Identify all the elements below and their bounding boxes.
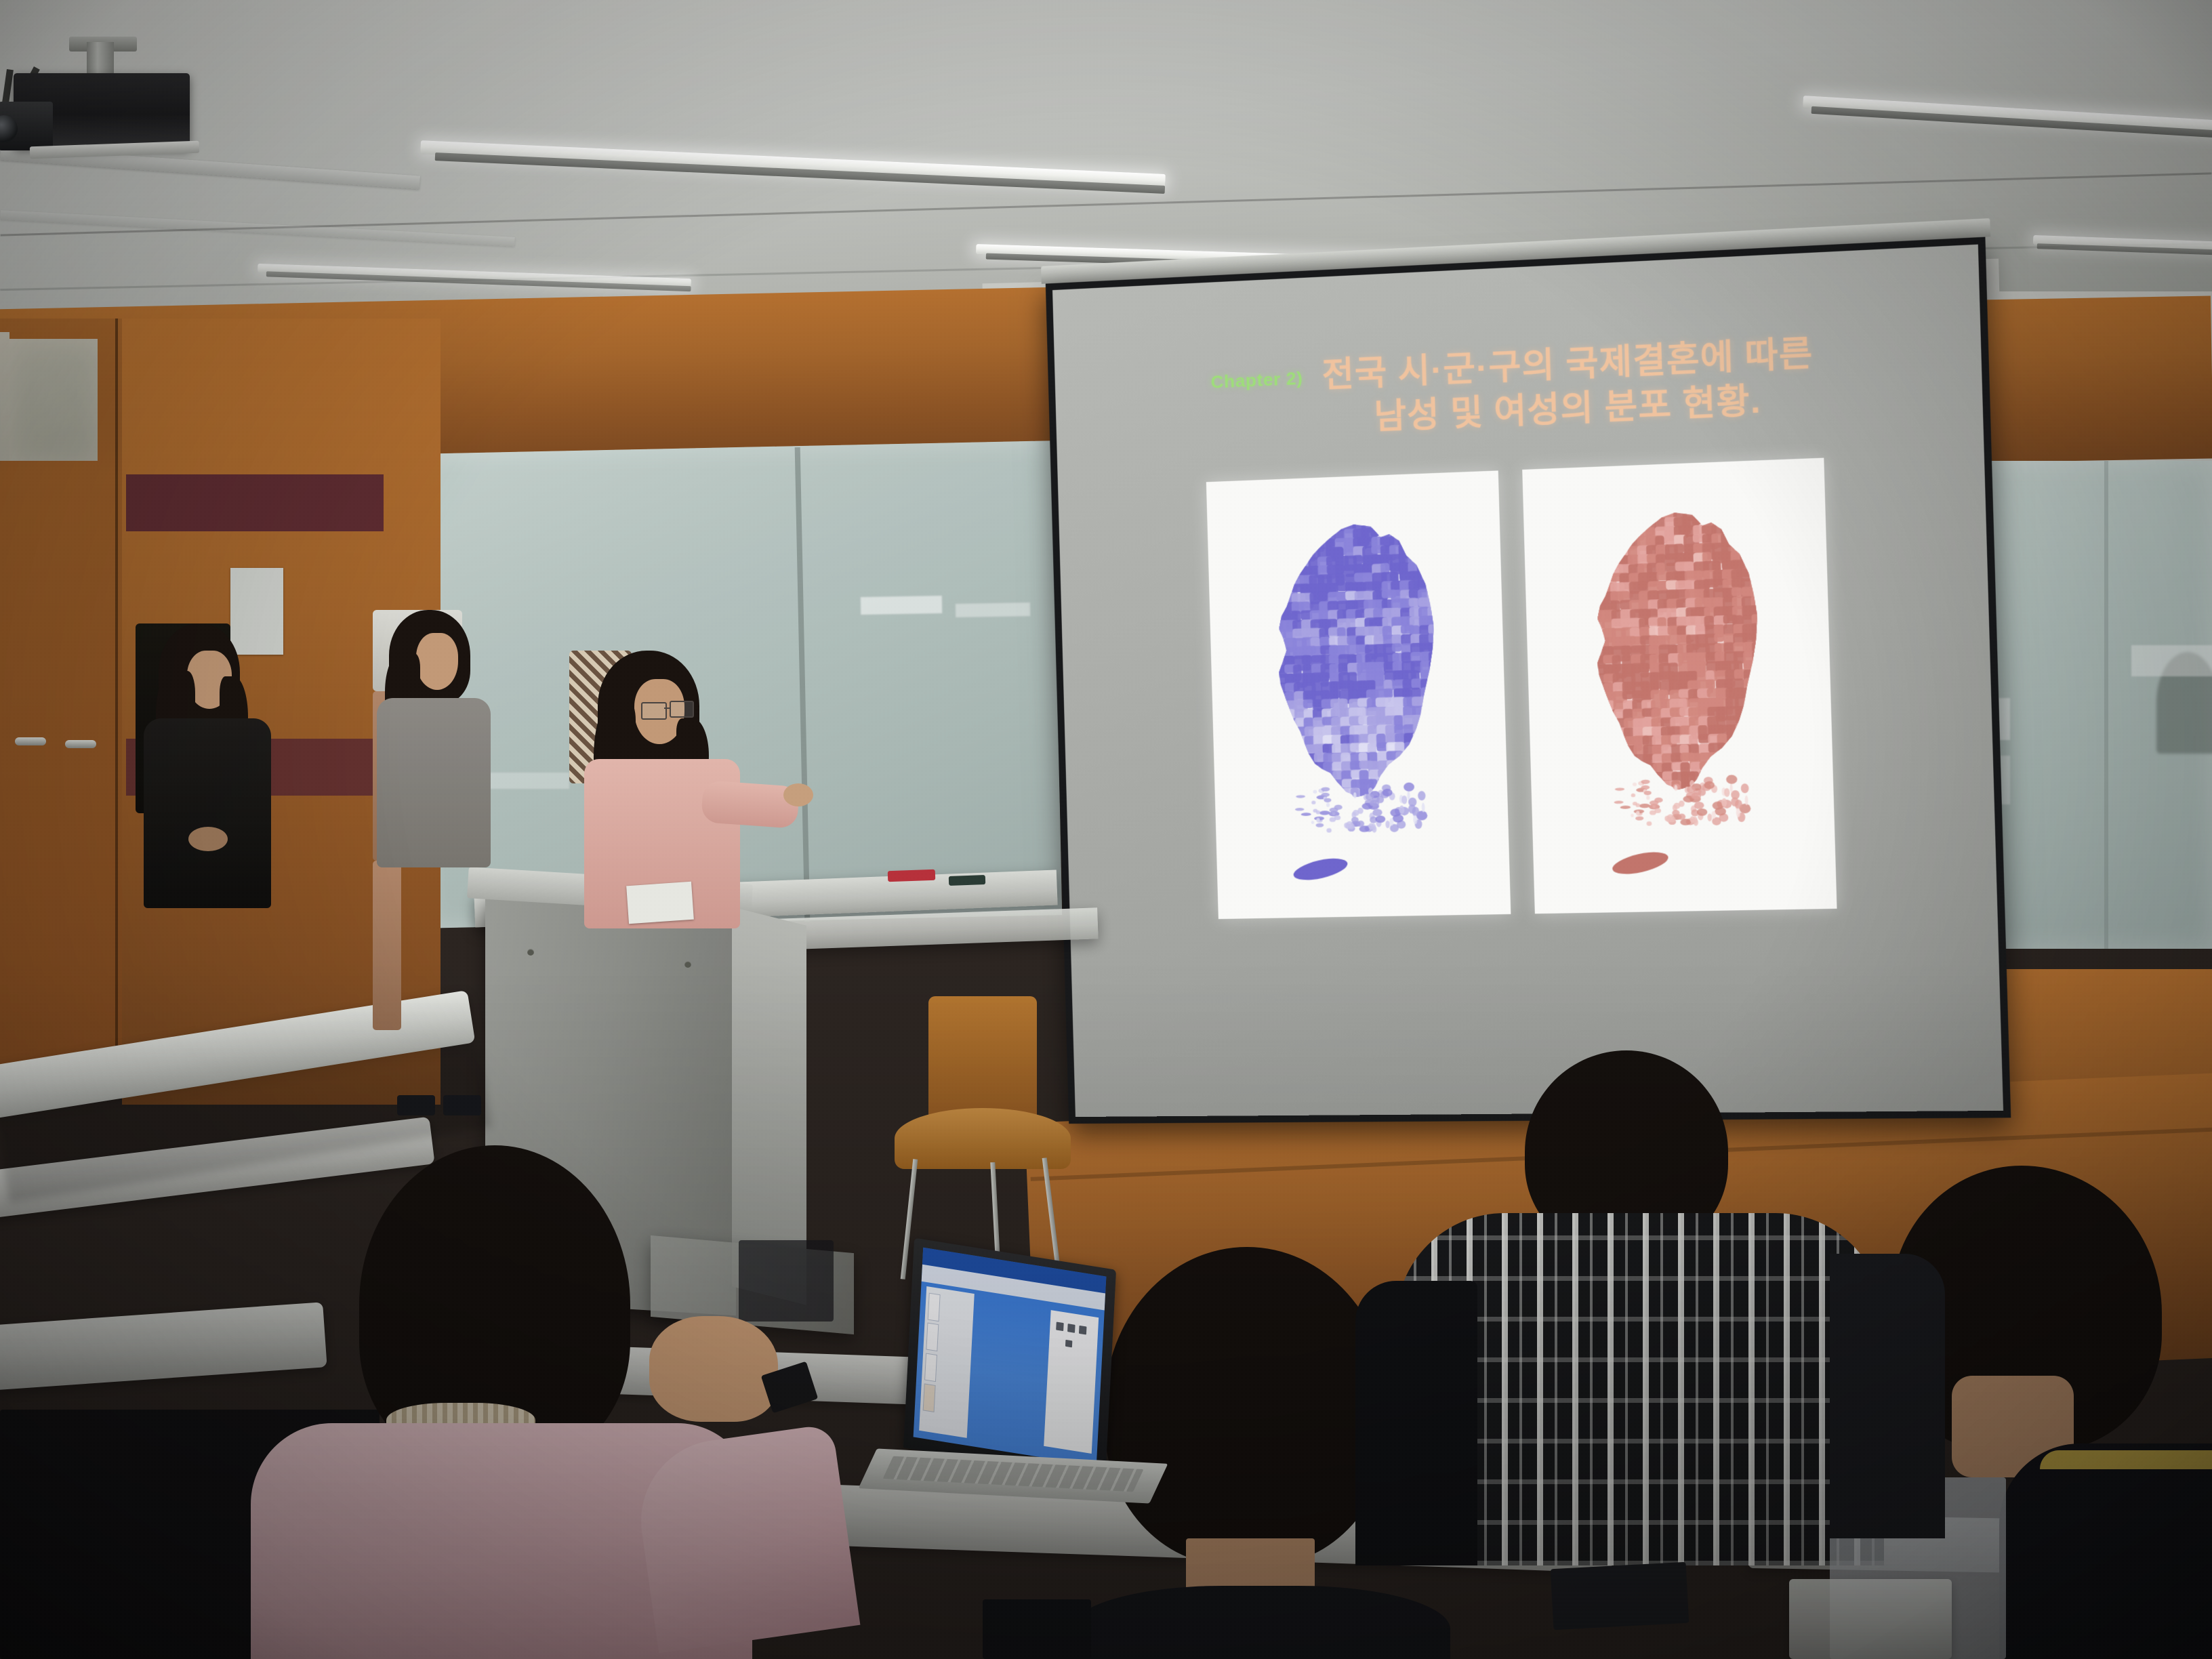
- laptop-notes-panel[interactable]: [1044, 1310, 1099, 1454]
- window-mullion: [2104, 461, 2108, 949]
- chair-back: [928, 996, 1037, 1125]
- notes-text-line: [1056, 1322, 1064, 1331]
- podium-screw: [684, 961, 691, 968]
- audience-plaid-neighbor-shoulder: [1355, 1281, 1477, 1565]
- screen-surface: Chapter 2) 전국 시·군·구의 국제결혼에 따른 남성 및 여성의 분…: [1052, 245, 2003, 1117]
- door-window: [0, 332, 9, 461]
- laptop-slide-panel[interactable]: [919, 1286, 974, 1438]
- map-female-svg: [1522, 457, 1837, 914]
- glasses-bridge: [664, 708, 671, 709]
- presenter-middle-shoe: [443, 1095, 481, 1115]
- door-handle[interactable]: [15, 737, 46, 745]
- paper-sheet[interactable]: [1789, 1579, 1952, 1659]
- glasses-lens-right: [670, 701, 694, 718]
- projection-screen: Chapter 2) 전국 시·군·구의 국제결혼에 따른 남성 및 여성의 분…: [1046, 237, 2011, 1124]
- slide-thumbnail[interactable]: [926, 1323, 939, 1352]
- maroon-accent-band: [126, 474, 384, 531]
- door-window: [9, 339, 98, 461]
- door-seam: [115, 319, 118, 1091]
- dark-marker[interactable]: [949, 875, 985, 886]
- presenter-left-hands: [188, 827, 228, 851]
- classroom-presentation-photo: Chapter 2) 전국 시·군·구의 국제결혼에 따른 남성 및 여성의 분…: [0, 0, 2212, 1659]
- audience-right-neighbor: [1830, 1254, 1945, 1538]
- desk-item[interactable]: [983, 1599, 1091, 1659]
- slide-chapter-tag: Chapter 2): [1210, 368, 1303, 393]
- slide: Chapter 2) 전국 시·군·구의 국제결혼에 따른 남성 및 여성의 분…: [1052, 245, 2003, 1117]
- presenter-right-arm: [701, 780, 800, 829]
- red-marker[interactable]: [888, 869, 936, 882]
- presenter-middle-shoe: [397, 1095, 435, 1115]
- slide-thumbnail[interactable]: [923, 1383, 935, 1412]
- slide-maps-row: [1206, 457, 1837, 919]
- ceiling-projector: [14, 42, 217, 178]
- desk-item[interactable]: [1551, 1562, 1689, 1630]
- audience-pink-hand: [649, 1316, 778, 1422]
- presenter-middle-face: [416, 633, 458, 690]
- slide-thumbnail[interactable]: [928, 1292, 940, 1322]
- slide-title-row: Chapter 2) 전국 시·군·구의 국제결혼에 따른 남성 및 여성의 분…: [1054, 323, 1983, 452]
- notes-text-line: [1078, 1325, 1086, 1334]
- presenter-right-hand: [783, 783, 813, 806]
- glass-reflection: [956, 602, 1030, 617]
- audience-right-jacket-trim: [2040, 1450, 2212, 1469]
- classroom-chair[interactable]: [867, 996, 1098, 1281]
- presenter-right: [569, 651, 806, 935]
- audience-plaid: [1355, 1050, 1898, 1565]
- laptop-screen[interactable]: [914, 1248, 1107, 1466]
- podium-screw: [527, 949, 534, 956]
- glass-reflection: [861, 596, 942, 615]
- map-male-distribution: [1206, 470, 1511, 919]
- laptop[interactable]: [908, 1254, 1261, 1572]
- audience-pink-shirt: [224, 1145, 888, 1659]
- audience-center-shoulders: [1071, 1586, 1450, 1659]
- presenter-middle-leg: [373, 861, 401, 1030]
- map-female-distribution: [1522, 457, 1837, 914]
- presenter-middle: [373, 610, 508, 1111]
- slide-thumbnail[interactable]: [924, 1353, 937, 1382]
- audience-right-shoulders: [1999, 1443, 2212, 1659]
- door-handle[interactable]: [65, 740, 96, 748]
- glasses-lens-left: [641, 702, 667, 720]
- notes-text-line: [1067, 1324, 1076, 1333]
- map-male-svg: [1206, 470, 1511, 919]
- slide-title-block: 전국 시·군·구의 국제결혼에 따른 남성 및 여성의 분포 현황.: [1322, 331, 1815, 441]
- notes-text-line: [1065, 1340, 1072, 1348]
- presenter-middle-torso: [377, 698, 491, 867]
- presenter-left-torso: [144, 718, 271, 908]
- presenter-right-notes[interactable]: [626, 882, 694, 924]
- presenter-left: [136, 623, 298, 1084]
- glass-reflection: [2131, 645, 2212, 676]
